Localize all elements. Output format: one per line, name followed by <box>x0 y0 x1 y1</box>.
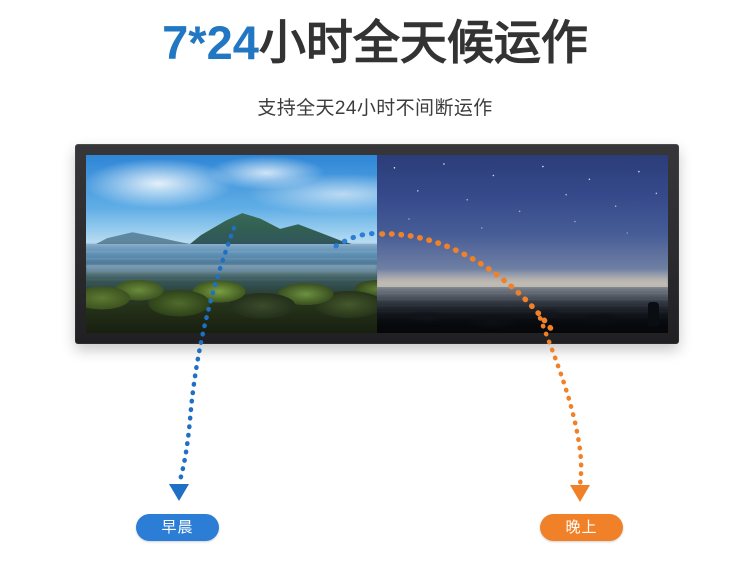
screen-panel-night <box>377 155 668 333</box>
page-subtitle: 支持全天24小时不间断运作 <box>0 95 750 123</box>
screen-panel-day <box>86 155 377 333</box>
promo-banner: 7*24小时全天候运作 支持全天24小时不间断运作 <box>0 0 750 573</box>
page-title-accent: 7*24 <box>162 16 259 69</box>
night-rocks <box>377 299 668 333</box>
page-title: 7*24小时全天候运作 <box>0 12 750 74</box>
monitor-screen <box>86 155 668 333</box>
monitor-device <box>75 144 679 344</box>
night-rock-pillar <box>648 302 659 326</box>
night-stars <box>377 155 668 283</box>
label-morning: 早晨 <box>136 514 219 541</box>
evening-arrowhead-icon <box>570 485 590 502</box>
page-title-rest: 小时全天候运作 <box>259 16 588 69</box>
day-mossy-rocks <box>86 272 377 333</box>
label-evening: 晚上 <box>540 514 623 541</box>
morning-arrowhead-icon <box>169 484 189 501</box>
